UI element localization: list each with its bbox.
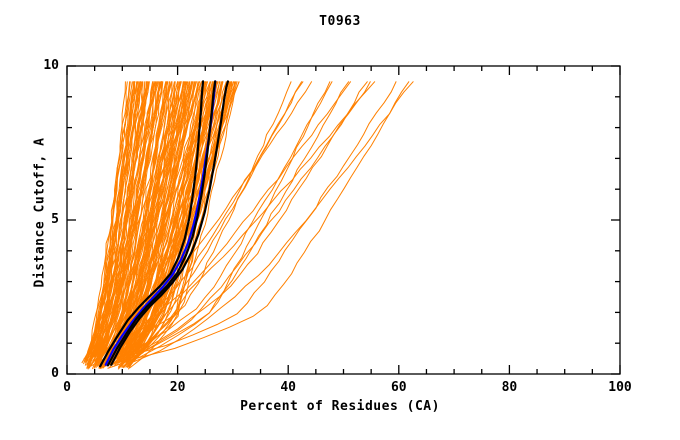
x-tick-label: 40 (268, 380, 308, 395)
x-tick-label: 100 (600, 380, 640, 395)
y-tick-label: 10 (29, 58, 59, 73)
x-tick-label: 80 (489, 380, 529, 395)
x-axis-label: Percent of Residues (CA) (0, 399, 680, 414)
x-tick-label: 0 (47, 380, 87, 395)
x-tick-label: 60 (379, 380, 419, 395)
chart-figure: T0963 Distance Cutoff, A Percent of Resi… (0, 0, 680, 440)
x-tick-label: 20 (158, 380, 198, 395)
plot-canvas (0, 0, 680, 440)
y-tick-label: 5 (29, 212, 59, 227)
y-tick-label: 0 (29, 366, 59, 381)
